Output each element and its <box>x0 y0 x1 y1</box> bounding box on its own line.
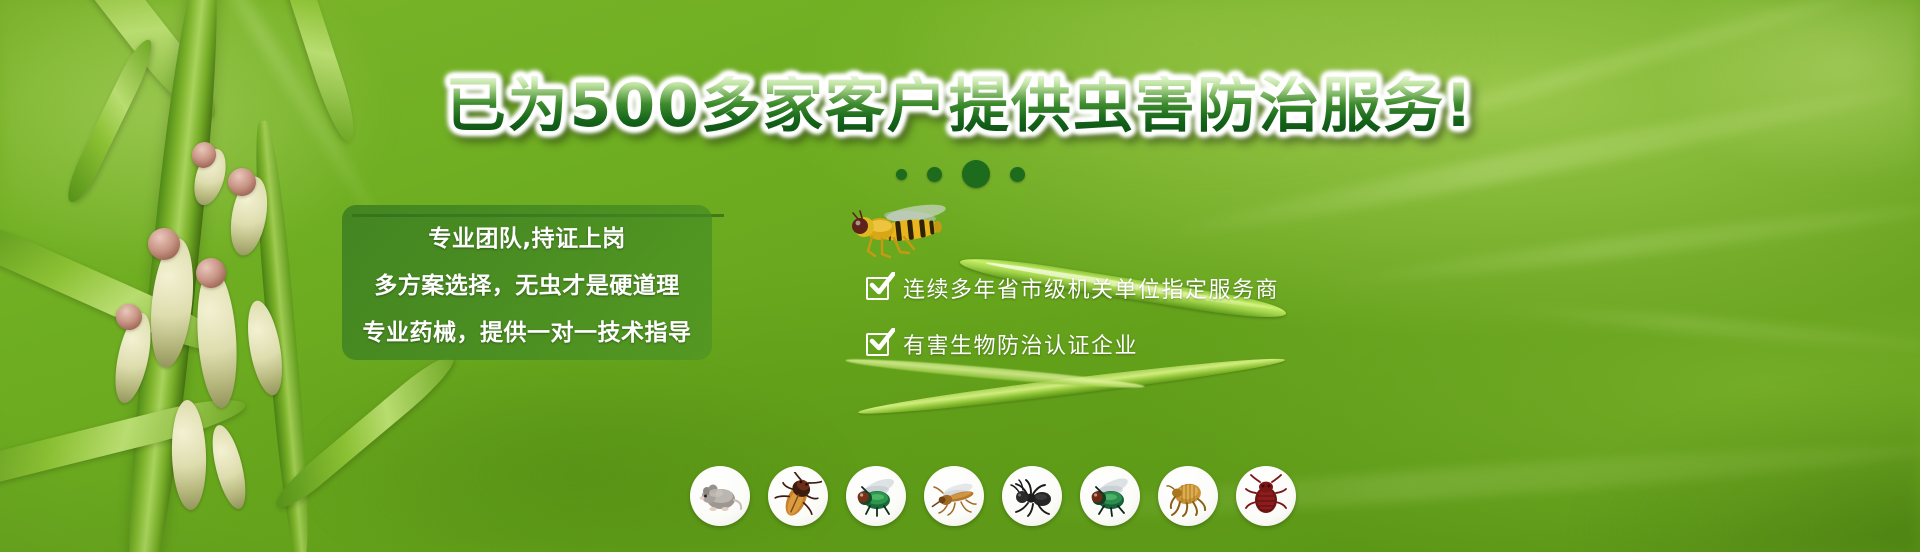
list-item: 连续多年省市级机关单位指定服务商 <box>866 272 1279 304</box>
credentials-list: 连续多年省市级机关单位指定服务商 有害生物防治认证企业 <box>866 272 1279 360</box>
dot-medium-icon <box>1010 167 1025 182</box>
flea-icon[interactable] <box>1158 466 1218 526</box>
dot-small-icon <box>896 169 907 180</box>
credential-label: 连续多年省市级机关单位指定服务商 <box>903 272 1279 304</box>
mosquito-icon[interactable] <box>924 466 984 526</box>
check-box-icon <box>866 277 889 300</box>
dot-large-icon <box>962 160 990 188</box>
selling-points-panel: 专业团队,持证上岗 多方案选择，无虫才是硬道理 专业药械，提供一对一技术指导 <box>342 205 712 360</box>
check-box-icon <box>866 333 889 356</box>
pest-icon-strip <box>690 466 1296 526</box>
rodent-mouse-icon[interactable] <box>690 466 750 526</box>
cockroach-icon[interactable] <box>768 466 828 526</box>
selling-point-line: 多方案选择，无虫才是硬道理 <box>374 266 680 300</box>
selling-point-line: 专业团队,持证上岗 <box>428 219 625 253</box>
fly-blow-icon[interactable] <box>1080 466 1140 526</box>
bedbug-icon[interactable] <box>1236 466 1296 526</box>
fly-green-bottle-icon[interactable] <box>846 466 906 526</box>
promotional-banner: 已为500多家客户提供虫害防治服务! 专业团队,持证上岗 多方案选择，无虫才是硬… <box>0 0 1920 552</box>
list-item: 有害生物防治认证企业 <box>866 328 1279 360</box>
credential-label: 有害生物防治认证企业 <box>903 328 1138 360</box>
decorative-dots <box>0 160 1920 188</box>
hoverfly-icon <box>846 198 964 260</box>
selling-point-line: 专业药械，提供一对一技术指导 <box>363 313 692 347</box>
dot-medium-icon <box>927 167 942 182</box>
ant-icon[interactable] <box>1002 466 1062 526</box>
